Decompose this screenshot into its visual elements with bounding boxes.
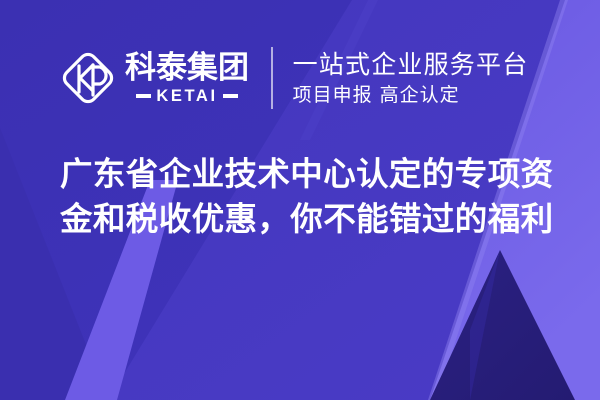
headline-block: 广东省企业技术中心认定的专项资 金和税收优惠，你不能错过的福利 — [60, 152, 560, 242]
header-divider — [271, 47, 273, 109]
tagline-sub: 项目申报 高企认定 — [293, 83, 529, 108]
dash-left-icon — [136, 94, 151, 98]
ketai-diamond-kp-monogram-icon — [60, 48, 116, 108]
promo-banner: 科泰集团 KETAI 一站式企业服务平台 项目申报 高企认定 广东省企业技术中心… — [0, 0, 600, 400]
tagline-block: 一站式企业服务平台 项目申报 高企认定 — [293, 49, 529, 108]
brand-name-cn: 科泰集团 — [125, 52, 249, 85]
tagline-main: 一站式企业服务平台 — [293, 49, 529, 80]
brand-logo[interactable]: 科泰集团 KETAI — [60, 48, 249, 108]
brand-name-en: KETAI — [156, 88, 217, 105]
brand-name-en-row: KETAI — [136, 88, 237, 105]
headline-line-2: 金和税收优惠，你不能错过的福利 — [60, 197, 560, 242]
dash-right-icon — [223, 94, 238, 98]
brand-wordmark: 科泰集团 KETAI — [125, 52, 249, 105]
headline-line-1: 广东省企业技术中心认定的专项资 — [60, 152, 560, 197]
banner-header: 科泰集团 KETAI 一站式企业服务平台 项目申报 高企认定 — [60, 40, 550, 116]
